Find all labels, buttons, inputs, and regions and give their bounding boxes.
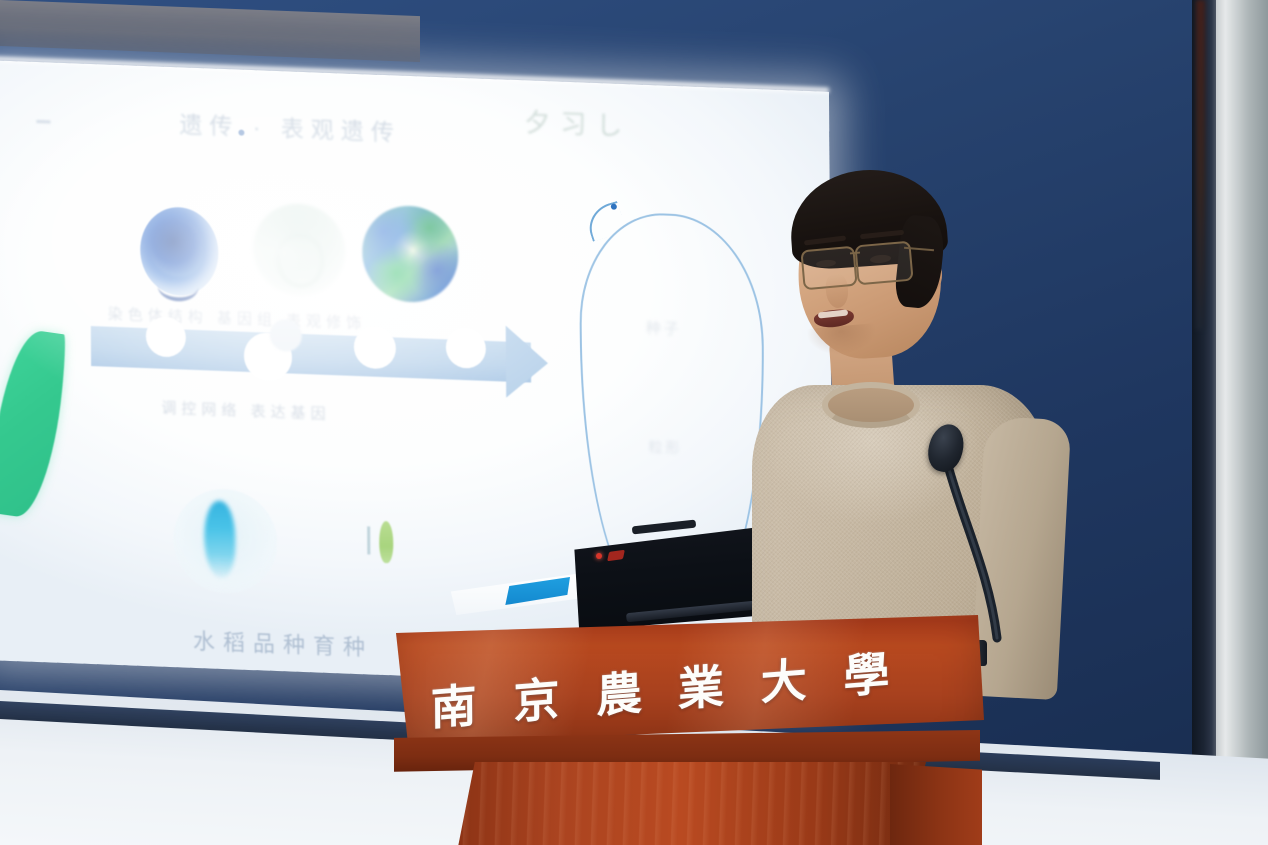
laptop-logo-dot-icon (596, 553, 602, 559)
nameplate-char-1: 京 (513, 663, 559, 733)
wall-seam-warm-reflection (1196, 0, 1205, 330)
stain-figure (204, 501, 236, 579)
laptop-hinge (632, 520, 696, 535)
mini-leaf-light-green (379, 521, 393, 564)
seed-outline (277, 234, 324, 288)
slide-bottom-caption: 水稻品种育种 (193, 624, 373, 663)
nameplate-char-2: 農 (596, 656, 642, 726)
arrow-notch-4 (446, 327, 486, 369)
mini-leaf-stem (367, 526, 370, 554)
sweater-collar (822, 382, 920, 428)
lectern: 南 京 農 業 大 學 (378, 612, 998, 845)
chromosome-tail (158, 270, 199, 302)
process-arrow-head (506, 326, 549, 400)
grain-outline-tip-dot (611, 204, 617, 210)
presentation-photo: 遗传 · 表观遗传 夕习し 染色体结构 基因组 表观修饰 调控网络 表达基因 种 (0, 0, 1268, 845)
slide-title-dot (238, 130, 244, 136)
lectern-side-panel (890, 764, 982, 845)
nameplate-char-3: 業 (678, 650, 724, 720)
wall-right-column (1216, 0, 1268, 845)
chromosome-blob (148, 217, 205, 279)
nameplate-char-4: 大 (761, 644, 807, 714)
nameplate-char-0: 南 (430, 669, 476, 739)
chin-shadow (807, 323, 877, 357)
grain-inner-label-2: 粒形 (648, 437, 682, 458)
lectern-base-grain (456, 762, 926, 845)
slide-title-trailing: 夕习し (524, 102, 632, 143)
arrow-node-dot (270, 319, 302, 352)
slide-title-bullet (36, 120, 50, 124)
arrow-notch-1 (146, 316, 186, 358)
grain-inner-label-1: 种子 (646, 317, 682, 339)
nameplate-char-5: 學 (843, 637, 889, 707)
